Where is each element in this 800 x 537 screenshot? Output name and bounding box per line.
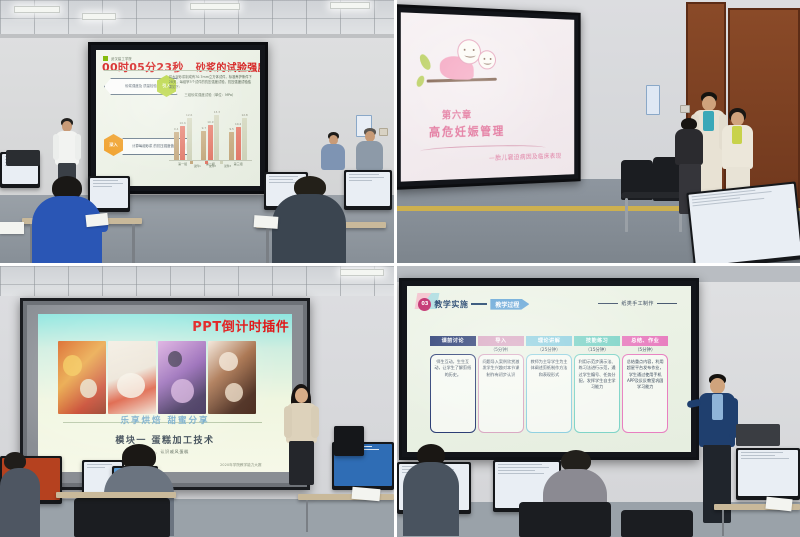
attendee-seated [356,128,384,172]
legend-label: 试件3 [224,164,231,168]
torso [0,468,40,537]
bar-value: 12.6 [186,113,192,117]
slide-footer: 2020年学院教学能力大赛 [220,463,262,468]
panel-bottom-left: 乐享烘焙 甜蜜分享 模块一 蛋糕加工技术 任务一、认识戚风蛋糕 2020年学院教… [0,266,397,537]
panel-top-left: 武汉建工学院 00时05分23秒 砂浆的试验强度 砂浆强度及 质量检验 [0,0,397,266]
desk-leg [722,510,725,536]
food-photo [108,341,156,414]
arm-right [75,134,81,160]
table-header-cell: 课前讨论 [430,336,476,346]
torso [272,194,346,266]
arm-left [53,134,59,160]
chair [621,510,693,537]
bar-chart: 9.4 10.6 12.6 9.7 10.9 13.3 [169,100,252,170]
floor [0,499,394,537]
skirt [289,441,314,485]
logo-text: 武汉建工学院 [111,56,132,61]
head [731,112,744,126]
hex-badge-deep-label: 深入 [109,143,117,148]
leaf [418,53,433,72]
slide-subheading: —胎儿窘迫病因及临床表现 [489,150,562,162]
projection-screen: 第六章 高危妊娠管理 —胎儿窘迫病因及临床表现 [397,4,581,190]
slide-header-right: 纸类手工制作 [598,300,676,307]
ceiling-light [340,269,384,276]
projection-screen: 03 教学实施 教学过程 纸类手工制作 课前讨论 [399,278,699,460]
ceiling-light [82,13,116,20]
mother-and-child-line-art [427,37,502,104]
bar-value: 9.5 [229,127,233,131]
classroom-scene-3: 乐享烘焙 甜蜜分享 模块一 蛋糕加工技术 任务一、认识戚风蛋糕 2020年学院教… [0,266,394,537]
child-head [479,50,497,69]
table-duration-row: （5分钟） （25分钟） （15分钟） （5分钟） [430,347,669,353]
section-badge: 03 [418,298,431,311]
rule-left [598,303,618,304]
legend-item: 试件3 [220,152,231,171]
classroom-scene-1: 武汉建工学院 00时05分23秒 砂浆的试验强度 砂浆强度及 质量检验 [0,0,394,263]
slide-header: 03 教学实施 教学过程 [418,298,529,311]
chair [519,502,611,537]
monitor [344,170,392,210]
classroom-scene-4: 03 教学实施 教学过程 纸类手工制作 课前讨论 [397,266,800,537]
duration-cell [430,347,476,353]
ceiling-light [14,6,60,13]
bar-value: 9.4 [174,127,178,131]
table-cell: 总结重点内容，利用超星平台发布作业，学生通过使用手机APP及反反教室巩固学习能力 [622,354,668,432]
food-photo [208,341,256,414]
leaf [416,75,427,89]
table-cell: 问题导入案例欣赏激发学生兴趣对本节课制作有初步认识 [478,354,524,432]
teaching-process-table: 课前讨论 导入 理论讲解 技能练习 总结、作业 （5分钟） （25分钟） （15… [430,336,669,432]
panel-top-right: 第六章 高危妊娠管理 —胎儿窘迫病因及临床表现 [397,0,800,266]
chair [74,498,170,537]
table-cell: 师生互动，生生互动，让学生了解剪纸的历史。 [430,354,476,432]
slide-heading: 高危妊娠管理 [429,123,505,141]
table-body-row: 师生互动，生生互动，让学生了解剪纸的历史。 问题导入案例欣赏激发学生兴趣对本节课… [430,354,669,432]
head [710,378,725,394]
head [702,96,716,111]
legend-item: 试件1 [190,152,201,171]
torso [675,129,703,165]
slide-teaching-process: 03 教学实施 教学过程 纸类手工制作 课前讨论 [407,286,691,452]
monitor [334,426,364,456]
food-photo [158,341,206,414]
rule-right [657,303,677,304]
callout-intro-text: 砂浆强度及 质量检验 [125,84,157,88]
inner-shirt [732,126,742,144]
legend-label: 试件2 [209,164,216,168]
bar-value: 10.4 [235,122,241,126]
slide-chapter: 第六章 [442,107,472,122]
torso [321,144,345,170]
header-dash-icon [471,303,487,304]
bar-value: 13.3 [214,110,220,114]
torso [403,462,459,536]
participant-foreground [0,452,42,537]
header-right-text: 纸类手工制作 [621,300,653,307]
attendee-seated [320,132,346,172]
food-photo [58,341,106,414]
title-rule [104,70,252,71]
table-header-cell: 理论讲解 [526,336,572,346]
duration-cell: （25分钟） [526,347,572,353]
participant-foreground [272,176,348,266]
legend-label: 试件1 [194,164,201,168]
duration-cell: （5分钟） [622,347,668,353]
duration-cell: （15分钟） [574,347,620,353]
printer [6,150,40,166]
table-header-cell: 技能练习 [574,336,620,346]
slide-paragraph: 将水泥砂浆制成有70.7mm立方体试件，标准养护条件下28天，每组挐3个试件的抗… [166,74,254,89]
desk-leg [266,228,269,266]
ceiling-light [330,2,370,9]
handout [352,487,381,501]
projection-screen: 武汉建工学院 00时05分23秒 砂浆的试验强度 砂浆强度及 质量检验 [88,42,268,194]
food-photo-strip [58,341,256,414]
handout [254,215,279,229]
table-header-cell: 导入 [478,336,524,346]
inner-shirt [712,394,723,420]
countdown-timer: 00时05分23秒 [102,61,184,74]
photo-collage: 武汉建工学院 00时05分23秒 砂浆的试验强度 砂浆强度及 质量检验 [0,0,800,537]
participant-foreground [403,444,459,536]
header-title: 教学实施 [434,299,468,310]
wall-poster [646,85,660,115]
table-cell: 教师为主导学生为主体阐述剪纸制作方法和表现形式 [526,354,572,432]
handout [765,497,792,512]
head [295,388,308,403]
monitor [736,448,800,500]
ceiling-light [190,3,240,10]
slide-tagline: 乐享烘焙 甜蜜分享 [38,414,292,426]
bar-value: 10.9 [207,120,213,124]
table-header-row: 课前讨论 导入 理论讲解 技能练习 总结、作业 [430,336,669,346]
presenter-standing [284,384,318,506]
chart-caption: 三组砂浆强度试验（单位：MPa） [166,92,254,97]
slide-subject: 砂浆的试验强度 [196,63,260,74]
slide-pregnancy-management: 第六章 高危妊娠管理 —胎儿窘迫病因及临床表现 [401,12,574,181]
duration-cell: （5分钟） [478,347,524,353]
desk-leg [306,500,309,532]
bar-value: 10.6 [180,121,186,125]
ceiling [0,266,394,299]
hex-badge-deep: 深入 [104,134,123,156]
desk-leg [132,224,135,266]
bar-value: 12.8 [241,113,247,117]
trousers [703,445,731,523]
logo-mark-icon [103,56,108,61]
printer [736,424,780,446]
handout [0,222,24,234]
wall-trim [0,34,394,38]
slide-mortar-strength: 武汉建工学院 00时05分23秒 砂浆的试验强度 砂浆强度及 质量检验 [96,50,260,186]
header-tag: 教学过程 [490,299,529,310]
arm [284,406,292,438]
slide-logo: 武汉建工学院 [103,56,132,61]
torso [356,141,383,171]
classroom-scene-2: 第六章 高危妊娠管理 —胎儿窘迫病因及临床表现 [397,0,800,263]
chart-legend: 试件1 试件2 试件3 [169,152,252,171]
annotation-countdown-plugin: PPT倒计时插件 [192,316,289,335]
chair-leg [625,198,628,232]
handout [85,213,108,227]
monitor [686,181,800,266]
legend-item: 试件2 [205,152,216,171]
table-cell: 利用示范步演示法、练习法进行示范，通过学生编号、任务分配，发挥学生自主学习能力 [574,354,620,432]
bar-value: 9.7 [202,126,206,130]
panel-bottom-right: 03 教学实施 教学过程 纸类手工制作 课前讨论 [397,266,800,537]
table-header-cell: 总结、作业 [622,336,668,346]
desk [56,492,176,498]
wall-switch [680,105,690,113]
arm [311,406,319,438]
